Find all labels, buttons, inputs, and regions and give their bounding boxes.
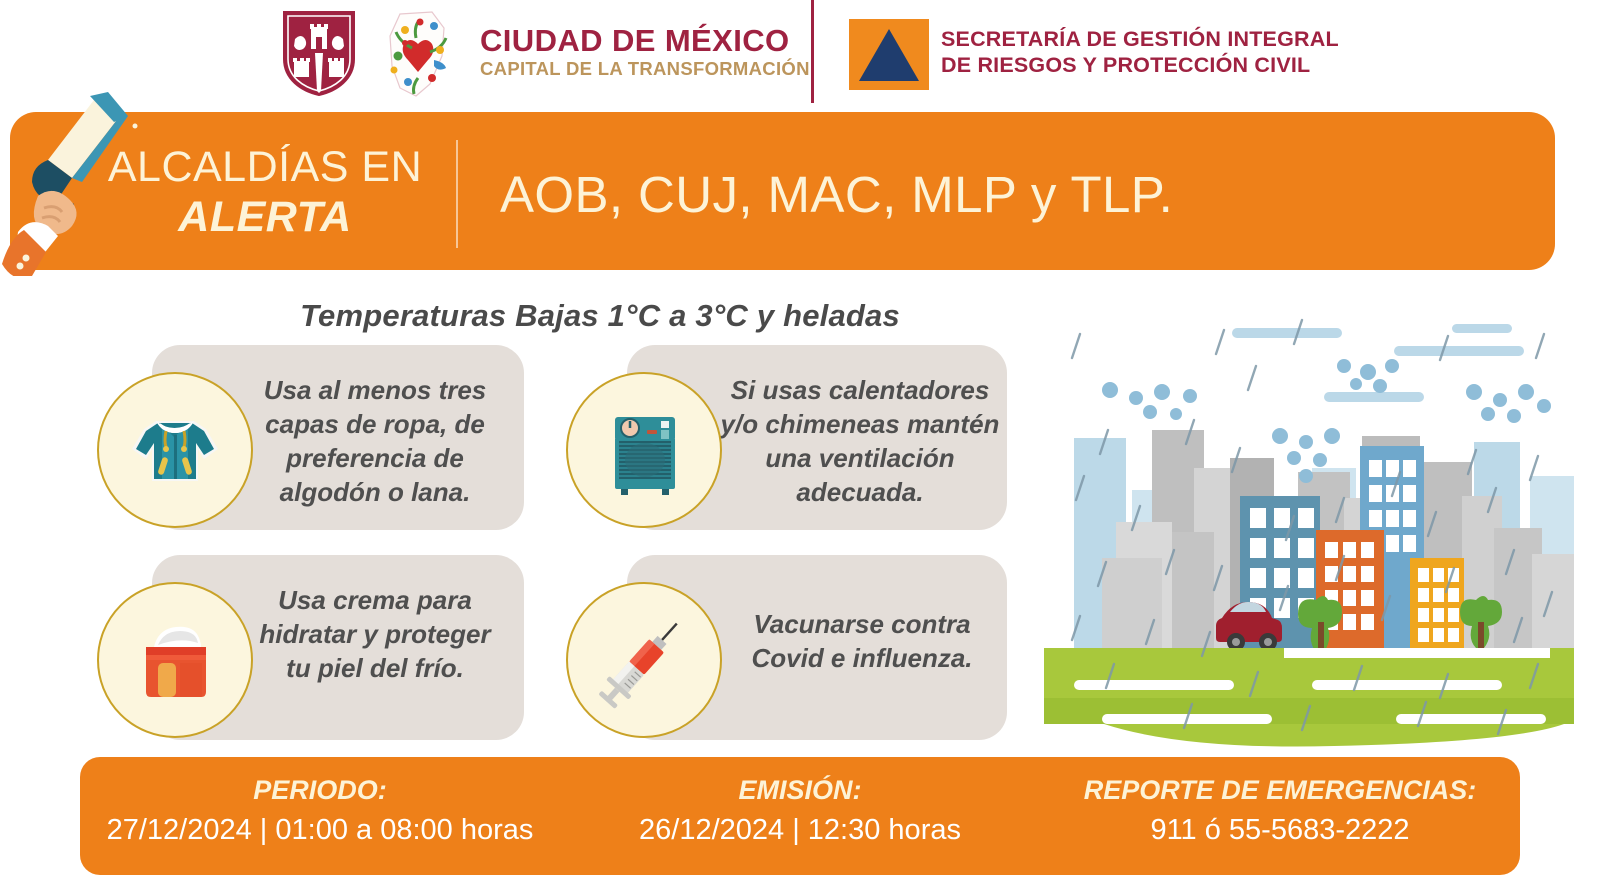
footer-value: 27/12/2024 | 01:00 a 08:00 horas bbox=[80, 809, 560, 851]
footer-column-emergencias: REPORTE DE EMERGENCIAS: 911 ó 55-5683-22… bbox=[1040, 757, 1520, 851]
cdmx-coat-of-arms-icon bbox=[281, 9, 357, 97]
alert-title-group: ALCALDÍAS EN ALERTA bbox=[76, 134, 454, 250]
winter-coat-icon bbox=[120, 395, 230, 505]
alert-zones: AOB, CUJ, MAC, MLP y TLP. bbox=[470, 165, 1173, 224]
footer-bar: PERIODO: 27/12/2024 | 01:00 a 08:00 hora… bbox=[80, 757, 1520, 875]
space-heater-icon bbox=[589, 395, 699, 505]
brand-name: CIUDAD DE MÉXICO bbox=[480, 24, 810, 58]
infographic-page: CIUDAD DE MÉXICO CAPITAL DE LA TRANSFORM… bbox=[0, 0, 1600, 885]
footer-label: REPORTE DE EMERGENCIAS: bbox=[1040, 771, 1520, 809]
page-title: Temperaturas Bajas 1°C a 3°C y heladas bbox=[60, 298, 1140, 334]
footer-column-emision: EMISIÓN: 26/12/2024 | 12:30 horas bbox=[560, 757, 1040, 851]
footer-label: PERIODO: bbox=[80, 771, 560, 809]
recommendation-text: Si usas calentadores y/o chimeneas manté… bbox=[719, 373, 1001, 509]
cdmx-wordmark: CIUDAD DE MÉXICO CAPITAL DE LA TRANSFORM… bbox=[480, 24, 810, 80]
recommendation-icon-wrapper bbox=[97, 582, 253, 738]
triangle-logo-icon bbox=[849, 19, 929, 90]
recommendation-icon-wrapper bbox=[97, 372, 253, 528]
cream-jar-icon bbox=[120, 605, 230, 715]
rainy-city-illustration bbox=[1044, 300, 1574, 750]
footer-label: EMISIÓN: bbox=[560, 771, 1040, 809]
footer-column-periodo: PERIODO: 27/12/2024 | 01:00 a 08:00 hora… bbox=[80, 757, 560, 851]
agency-name-line1: SECRETARÍA DE GESTIÓN INTEGRAL bbox=[941, 26, 1339, 52]
brand-tagline: CAPITAL DE LA TRANSFORMACIÓN bbox=[480, 58, 810, 80]
syringe-icon bbox=[587, 603, 702, 718]
header-divider bbox=[811, 0, 814, 103]
recommendation-text: Vacunarse contra Covid e influenza. bbox=[727, 607, 997, 675]
alert-title-line2: ALERTA bbox=[178, 192, 351, 242]
footer-value: 911 ó 55-5683-2222 bbox=[1040, 809, 1520, 851]
recommendation-text: Usa al menos tres capas de ropa, de pref… bbox=[248, 373, 502, 509]
alert-zones-group: AOB, CUJ, MAC, MLP y TLP. bbox=[470, 140, 1540, 248]
footer-value: 26/12/2024 | 12:30 horas bbox=[560, 809, 1040, 851]
recommendation-text: Usa crema para hidratar y proteger tu pi… bbox=[248, 583, 502, 685]
header: CIUDAD DE MÉXICO CAPITAL DE LA TRANSFORM… bbox=[0, 0, 1600, 106]
recommendation-icon-wrapper bbox=[566, 582, 722, 738]
recommendation-icon-wrapper bbox=[566, 372, 722, 528]
agency-wordmark: SECRETARÍA DE GESTIÓN INTEGRAL DE RIESGO… bbox=[941, 26, 1339, 78]
alert-title-line1: ALCALDÍAS EN bbox=[108, 142, 422, 192]
agency-name-line2: DE RIESGOS Y PROTECCIÓN CIVIL bbox=[941, 52, 1339, 78]
cdmx-heart-emblem-icon bbox=[372, 8, 464, 100]
alert-separator bbox=[456, 140, 458, 248]
